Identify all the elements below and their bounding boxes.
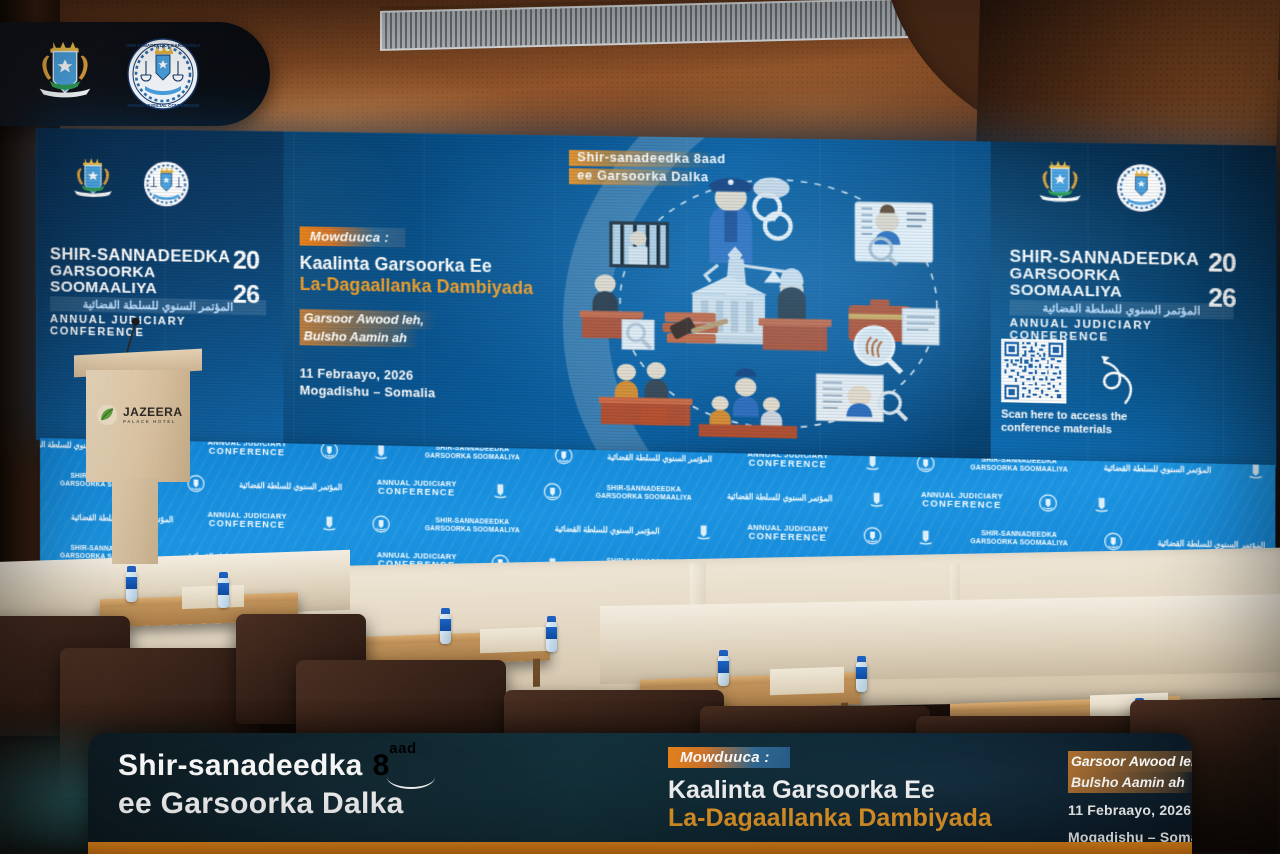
svg-text:SHIR SANADEEDKA GARSOORKA: SHIR SANADEEDKA GARSOORKA [126, 43, 200, 48]
right-panel-emblems [1031, 157, 1169, 220]
handcuffs-icon [754, 194, 790, 239]
year-top-right: 20 [1208, 252, 1235, 276]
qr-block: Scan here to access the conference mater… [1001, 338, 1212, 439]
jazeera-name: JAZEERA [123, 406, 183, 418]
table-box [770, 667, 844, 696]
judicial-seal-icon [143, 160, 191, 209]
somali-coat-of-arms-icon [321, 513, 338, 534]
slogan-line-2: Bulsho Aamin ah [300, 327, 420, 348]
backdrop-text-en: ANNUAL JUDICIARYCONFERENCE [207, 511, 286, 531]
case-file-icon [816, 374, 906, 422]
jazeera-hotel-logo: JAZEERA PALACE HOTEL [96, 398, 188, 432]
qr-caption: Scan here to access the conference mater… [1001, 408, 1127, 438]
jail-cell-icon [609, 221, 669, 268]
jazeera-sub: PALACE HOTEL [123, 420, 183, 424]
year-bottom-right: 26 [1208, 287, 1235, 311]
water-bottle [856, 656, 867, 692]
backdrop-text-so: SHIR-SANNADEEDKAGARSOORKA SOOMAALIYA [970, 530, 1068, 548]
backdrop-text-en: ANNUAL JUDICIARYCONFERENCE [377, 479, 457, 499]
led-right-panel: SHIR-SANNADEEDKA GARSOORKA SOOMAALIYA ال… [991, 142, 1277, 468]
backdrop-text-en: ANNUAL JUDICIARYCONFERENCE [921, 491, 1003, 511]
qr-caption-line1: Scan here to access the [1001, 408, 1127, 423]
curved-arrow-icon [1083, 342, 1140, 407]
banner-date: 11 Febraayo, 2026 [1068, 801, 1192, 820]
somali-coat-of-arms-icon [1092, 494, 1110, 515]
defendant-group-icon [699, 367, 797, 440]
judicial-seal-icon [864, 525, 882, 546]
year-bottom-left: 26 [233, 284, 259, 308]
stage-front-drape-right [600, 594, 1280, 684]
topic-line-2: La-Dagaallanka Dambiyada [300, 274, 606, 301]
led-topic-block: Mowduuca : Kaalinta Garsoorka Ee La-Daga… [300, 226, 606, 406]
banner-left-title: Shir-sanadeedka8aad ee Garsoorka Dalka [114, 747, 584, 824]
left-panel-emblems [66, 154, 191, 213]
water-bottle [546, 616, 557, 652]
judicial-seal-icon [1104, 531, 1122, 552]
banner-middle-topic: Mowduuca : Kaalinta Garsoorka Ee La-Daga… [668, 747, 1028, 832]
lower-third-banner: Shir-sanadeedka8aad ee Garsoorka Dalka M… [88, 733, 1192, 854]
water-bottle [718, 650, 729, 686]
backdrop-text-ar: المؤتمر السنوي للسلطة القضائية [1104, 463, 1211, 475]
ordinal-suffix: aad [389, 740, 416, 757]
table-box [480, 627, 550, 653]
year-top-left: 20 [233, 249, 259, 273]
banner-orange-bar [88, 842, 1192, 854]
somali-coat-of-arms-icon [695, 521, 713, 542]
backdrop-text-en: ANNUAL JUDICIARYCONFERENCE [747, 524, 828, 544]
backdrop-text-so: SHIR-SANNADEEDKAGARSOORKA SOOMAALIYA [596, 485, 692, 503]
podium-body: JAZEERA PALACE HOTEL [86, 370, 190, 482]
jazeera-leaf-icon [96, 404, 118, 426]
judicial-seal-icon [373, 514, 390, 535]
somali-coat-of-arms-icon [917, 527, 935, 548]
banner-right-info: Garsoor Awood leh, Bulsho Aamin ah 11 Fe… [1068, 751, 1192, 847]
podium-stem [112, 478, 158, 564]
banner-slogan-line1: Garsoor Awood leh, [1068, 751, 1192, 772]
somali-coat-of-arms-icon [868, 489, 886, 510]
header-emblem-plate: SHIR SANADEEDKA GARSOORKA ANNUAL JUDICIA… [0, 22, 270, 126]
water-bottle [440, 608, 451, 644]
somali-coat-of-arms-icon [1031, 157, 1090, 213]
banner-title-line2: ee Garsoorka Dalka [114, 785, 404, 823]
ordinal-badge: 8aad [373, 749, 417, 783]
table-box [182, 585, 244, 609]
judicial-conference-seal-icon: SHIR SANADEEDKA GARSOORKA ANNUAL JUDICIA… [126, 37, 200, 111]
witness-stand-icon [580, 274, 654, 350]
backdrop-text-so: SHIR-SANNADEEDKAGARSOORKA SOOMAALIYA [970, 457, 1068, 475]
backdrop-text-ar: المؤتمر السنوي للسلطة القضائية [607, 452, 712, 463]
backdrop-text-ar: المؤتمر السنوي للسلطة القضائية [239, 480, 342, 491]
somali-coat-of-arms-icon [491, 480, 508, 501]
jury-icon [599, 361, 693, 426]
backdrop-text-so: SHIR-SANNADEEDKAGARSOORKA SOOMAALIYA [425, 517, 520, 535]
conf-name-english: ANNUAL JUDICIARY CONFERENCE [50, 314, 266, 342]
backdrop-text-ar: المؤتمر السنوي للسلطة القضائية [555, 524, 660, 536]
svg-text:ANNUAL JUDICIAL CONFERENCE: ANNUAL JUDICIAL CONFERENCE [127, 103, 199, 108]
somali-coat-of-arms-icon [66, 154, 120, 207]
police-officer-icon [708, 178, 753, 264]
conf-name-line2: GARSOORKA SOOMAALIYA [1010, 266, 1234, 302]
banner-mowduuca-badge: Mowduuca : [668, 747, 790, 768]
id-card-icon [855, 202, 933, 265]
judicial-seal-icon [1115, 162, 1168, 214]
water-bottle [126, 566, 137, 602]
mowduuca-badge: Mowduuca : [300, 226, 406, 247]
backdrop-text-ar: المؤتمر السنوي للسلطة القضائية [727, 491, 833, 503]
banner-topic-line2: La-Dagaallanka Dambiyada [668, 804, 1028, 832]
banner-topic-line1: Kaalinta Garsoorka Ee [668, 776, 1028, 804]
water-bottle [218, 572, 229, 608]
speaker-podium: JAZEERA PALACE HOTEL [82, 352, 202, 564]
led-center-panel: Shir-sanadeedka 8aad ee Garsoorka Dalka … [283, 132, 990, 462]
somali-coat-of-arms-icon [26, 36, 104, 112]
judicial-seal-icon [1039, 493, 1057, 514]
qr-caption-line2: conference materials [1001, 422, 1112, 437]
right-panel-title-block: SHIR-SANNADEEDKA GARSOORKA SOOMAALIYA ال… [1010, 249, 1234, 347]
banner-slogan-line2: Bulsho Aamin ah [1068, 772, 1192, 793]
qr-code[interactable] [1001, 338, 1066, 403]
criminal-justice-cycle-illustration [579, 162, 965, 442]
led-video-wall: SHIR-SANNADEEDKA GARSOORKA SOOMAALIYA ال… [36, 128, 1276, 468]
banner-title-line1: Shir-sanadeedka [114, 747, 363, 785]
conference-hall-photo: SHIR SANADEEDKA GARSOORKA ANNUAL JUDICIA… [0, 0, 1280, 854]
backdrop-text-so: SHIR-SANNADEEDKAGARSOORKA SOOMAALIYA [425, 445, 520, 462]
conf-name-arabic: المؤتمر السنوي للسلطة القضائية [1010, 300, 1234, 320]
judicial-seal-icon [544, 481, 561, 502]
